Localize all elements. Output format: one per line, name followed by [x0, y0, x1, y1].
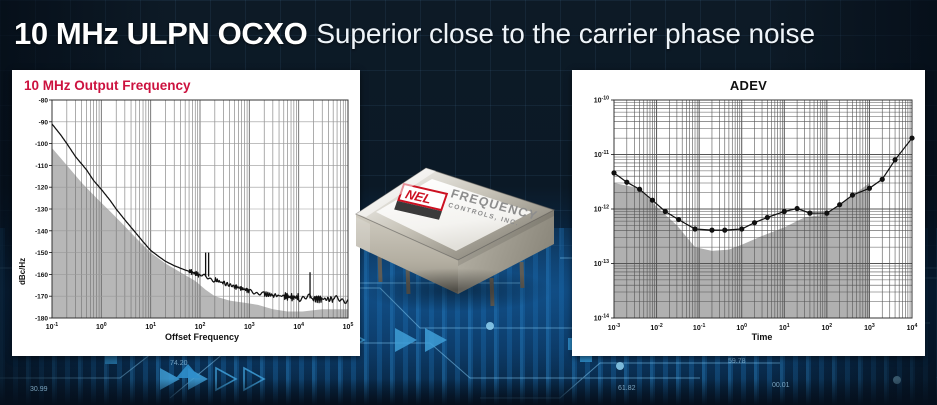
svg-text:-160: -160	[35, 272, 48, 279]
svg-text:-120: -120	[35, 185, 48, 192]
slide-root: 30.99 74.20 97.33 59.78 61.82 00.01 10 M…	[0, 0, 937, 405]
adev-x-axis-label: Time	[612, 332, 912, 342]
svg-text:100: 100	[96, 322, 107, 331]
svg-text:102: 102	[822, 323, 833, 332]
svg-text:104: 104	[293, 322, 304, 331]
svg-text:-170: -170	[35, 294, 48, 301]
svg-text:10-12: 10-12	[594, 204, 609, 213]
svg-text:10-1: 10-1	[46, 322, 59, 331]
svg-text:10-2: 10-2	[650, 323, 663, 332]
page-title: 10 MHz ULPN OCXO	[14, 16, 307, 52]
svg-text:-130: -130	[35, 207, 48, 214]
svg-text:10-3: 10-3	[608, 323, 621, 332]
svg-text:-90: -90	[39, 119, 49, 126]
svg-text:10-10: 10-10	[594, 95, 609, 104]
svg-text:-110: -110	[35, 163, 48, 170]
svg-text:103: 103	[864, 323, 875, 332]
svg-text:-80: -80	[39, 98, 49, 105]
phase-noise-x-axis-label: Offset Frequency	[52, 332, 352, 342]
svg-text:101: 101	[779, 323, 790, 332]
svg-text:10-13: 10-13	[594, 259, 609, 268]
slide-header: 10 MHz ULPN OCXO Superior close to the c…	[14, 8, 924, 60]
dimension-label: 30.99	[30, 386, 48, 393]
dimension-label: 59.78	[728, 358, 746, 365]
svg-text:-150: -150	[35, 250, 48, 257]
adev-plot: 10-1010-1110-1210-1310-1410-310-210-1100…	[572, 70, 925, 356]
dimension-label: 74.20	[170, 360, 188, 367]
dimension-label: 61.82	[618, 385, 636, 392]
svg-text:103: 103	[244, 322, 255, 331]
dimension-label: 00.01	[772, 382, 790, 389]
svg-text:10-11: 10-11	[594, 150, 609, 159]
svg-text:-100: -100	[35, 141, 48, 148]
page-subtitle: Superior close to the carrier phase nois…	[316, 18, 815, 50]
svg-text:10-14: 10-14	[594, 313, 609, 322]
svg-text:100: 100	[736, 323, 747, 332]
phase-noise-plot: -80-90-100-110-120-130-140-150-160-170-1…	[12, 70, 360, 356]
svg-text:-140: -140	[35, 228, 48, 235]
phase-noise-panel: 10 MHz Output Frequency dBc/Hz -80-90-10…	[12, 70, 360, 356]
product-shadow	[358, 268, 554, 312]
svg-text:-180: -180	[35, 316, 48, 323]
svg-text:104: 104	[907, 323, 918, 332]
background-bottom-fade	[0, 379, 937, 405]
ocxo-product-image: NEL FREQUENCY CONTROLS, INC.	[340, 118, 570, 333]
adev-panel: ADEV 10-1010-1110-1210-1310-1410-310-210…	[572, 70, 925, 356]
svg-text:102: 102	[195, 322, 206, 331]
svg-text:10-1: 10-1	[693, 323, 706, 332]
svg-text:101: 101	[145, 322, 156, 331]
